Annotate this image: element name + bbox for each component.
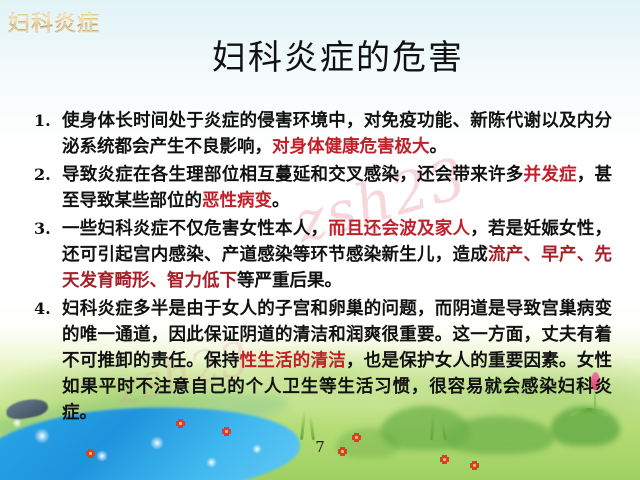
slide-canvas: zsh23 zsh23 妇科炎症 妇科炎症的危害 1. 使身体长时间处于炎症的侵… [0,0,640,480]
red-flower-icon [470,461,479,470]
list-item-marker: 3. [34,216,62,242]
red-flower-icon [222,427,231,436]
text-run-highlighted: 性生活的清洁 [240,351,347,371]
content-list: 1. 使身体长时间处于炎症的侵害环境中，对免疫功能、新陈代谢以及内分泌系统都会产… [34,108,612,428]
list-item-text: 使身体长时间处于炎症的侵害环境中，对免疫功能、新陈代谢以及内分泌系统都会产生不良… [62,108,612,160]
text-run: 一些妇科炎症不仅危害女性本人， [62,219,328,239]
list-item-marker: 4. [34,296,62,322]
red-flower-icon [440,455,449,464]
text-run-highlighted: 对身体健康危害极大 [272,137,430,157]
slide-title: 妇科炎症的危害 [0,30,640,79]
text-run: 等严重后果。 [237,271,342,291]
text-run-highlighted: 并发症 [524,165,577,185]
list-item: 2. 导致炎症在各生理部位相互蔓延和交叉感染，还会带来许多并发症，甚至导致某些部… [34,162,612,214]
list-item-text: 导致炎症在各生理部位相互蔓延和交叉感染，还会带来许多并发症，甚至导致某些部位的恶… [62,162,612,214]
list-item: 3. 一些妇科炎症不仅危害女性本人，而且还会波及家人，若是妊娠女性，还可引起宫内… [34,216,612,294]
list-item: 1. 使身体长时间处于炎症的侵害环境中，对免疫功能、新陈代谢以及内分泌系统都会产… [34,108,612,160]
text-run: 。 [430,137,448,157]
text-run: 。 [272,191,290,211]
text-run-highlighted: 恶性病变 [202,191,272,211]
list-item-marker: 1. [34,108,62,134]
page-number: 7 [0,438,640,456]
water-sparkle [12,418,22,428]
list-item-text: 一些妇科炎症不仅危害女性本人，而且还会波及家人，若是妊娠女性，还可引起宫内感染、… [62,216,612,294]
text-run-highlighted: 而且还会波及家人 [328,219,470,239]
list-item-text: 妇科炎症多半是由于女人的子宫和卵巢的问题，而阴道是导致宫巢病变的唯一通道，因此保… [62,296,612,426]
text-run: 导致炎症在各生理部位相互蔓延和交叉感染，还会带来许多 [62,165,524,185]
water-sparkle [206,457,217,468]
list-item-marker: 2. [34,162,62,188]
list-item: 4. 妇科炎症多半是由于女人的子宫和卵巢的问题，而阴道是导致宫巢病变的唯一通道，… [34,296,612,426]
